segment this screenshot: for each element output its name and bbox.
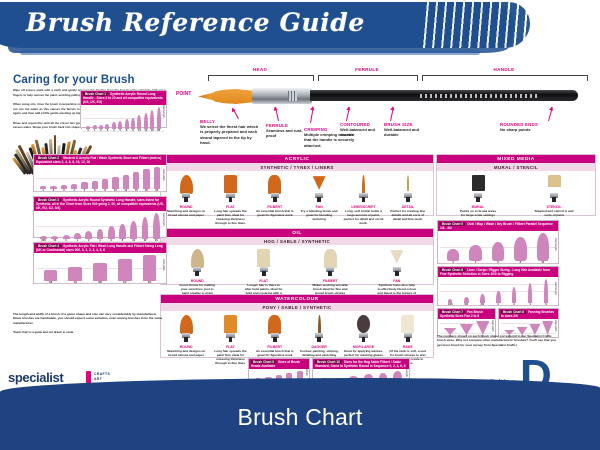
chart-header: Brush Chart 5Oval / Mop / Wash / Dry Bru… <box>438 221 558 231</box>
brush-ferrule <box>252 88 312 104</box>
chart-bar-shape <box>447 249 459 261</box>
chart-bar: 4 <box>71 184 77 192</box>
panel-heading: ACRYLIC <box>161 155 433 163</box>
callout-arrow <box>310 107 314 123</box>
callout-arrow <box>548 107 553 121</box>
brush-card[interactable]: DETAILPerfect for creating fine details … <box>388 175 428 221</box>
chart-bar: 1 <box>40 186 46 192</box>
panel-heading: OIL <box>161 229 433 237</box>
brush-shape-handle <box>317 197 321 202</box>
chart-bar-shape <box>118 259 132 281</box>
chart-bar-shape <box>537 233 549 261</box>
chart-bar-shape <box>143 169 149 189</box>
chart-bar: 10 <box>112 177 118 192</box>
chart-bar-label: 2 <box>512 303 517 306</box>
chart-bar: 1 <box>74 233 81 242</box>
size-chart: Brush Chart 1Synthetic Acrylic Round Lon… <box>80 90 167 128</box>
brush-shape-hair <box>224 315 237 333</box>
brush-card[interactable]: FLATLong hair spreads the paint fast, id… <box>210 175 250 225</box>
brush-shape-handle <box>195 271 199 276</box>
chart-bar-shape <box>512 287 517 303</box>
chart-bar-shape <box>68 267 82 281</box>
chart-bar-label: 6 <box>92 189 98 192</box>
chart-bar-label: 10 <box>112 189 118 192</box>
callout-contoured: CONTOURED Well-balanced and durable <box>340 122 388 138</box>
brush-shape-handle <box>273 197 277 202</box>
chart-bar-shape <box>118 121 122 129</box>
chart-bar-label: 10 <box>537 261 549 264</box>
brush-shape-liner <box>357 175 370 202</box>
chart-bar-label: 6 <box>544 303 549 306</box>
chart-bar-shape <box>514 237 526 261</box>
brush-shape-fan <box>390 249 403 276</box>
chart-axis-label: Width <box>305 369 308 376</box>
callout-arrow <box>275 107 279 121</box>
brush-shape-fan <box>313 175 326 202</box>
brush-description: Perfect for creating fine details and al… <box>388 209 428 221</box>
chart-bar-label: 8 <box>102 189 108 192</box>
brush-shape-handle <box>406 197 410 202</box>
logo-wordmark: specialist <box>8 370 63 385</box>
chart-bar: 6 <box>108 226 115 242</box>
chart-bar: 8 <box>514 237 526 264</box>
chart-bar-label: 2 <box>99 129 103 132</box>
brush-shape-hair <box>390 249 403 264</box>
chart-bar: 16 <box>150 110 154 132</box>
brush-illustration <box>401 315 415 343</box>
chart-bar: 12 <box>144 113 148 132</box>
brush-illustration <box>547 175 561 203</box>
brush-illustration <box>257 249 271 277</box>
chart-header: Brush Chart 1Synthetic Acrylic Round Lon… <box>81 91 166 105</box>
chart-bar: 6 <box>492 242 504 264</box>
panel-subheading: HOG / SABLE / SYNTHETIC <box>161 237 433 245</box>
brush-shape-hair <box>472 175 485 191</box>
brush-illustration <box>323 249 337 277</box>
chart-bar-shape <box>544 279 549 303</box>
chart-bar-label: 1/4 <box>68 281 82 284</box>
brush-shape-hair <box>357 315 370 333</box>
chart-bar-shape <box>130 221 137 239</box>
brush-shape-flat <box>257 249 270 276</box>
brush-card[interactable]: FILBERTAn essential brush that is great … <box>255 315 295 357</box>
bracket-label-ferrule: FERRULE <box>318 67 416 72</box>
brush-shape-hair <box>268 315 281 334</box>
size-chart: Brush Chart 6Liner / Script / Rigger Siz… <box>437 266 559 306</box>
chart-bar: 4 <box>469 245 481 264</box>
chart-axis-label: Hair length <box>162 105 165 118</box>
chart-plot: 00000012468101216 <box>34 211 166 242</box>
chart-axis-label: Hair length <box>554 238 557 251</box>
chart-bar-label: 3/8 <box>93 281 107 284</box>
chart-plot: 12345681012162024 <box>34 165 166 192</box>
chart-bar-label: 5 <box>118 129 122 132</box>
chart-bar-shape <box>119 224 126 239</box>
brush-shape-handle <box>362 337 366 342</box>
brush-description: Sketching and designs on broad canvas an… <box>166 349 206 357</box>
chart-bar-label: 12 <box>144 129 148 132</box>
chart-bar-label: 1 <box>40 189 46 192</box>
chart-bar-shape <box>157 107 161 129</box>
chart-bar: 2 <box>447 249 459 264</box>
chart-bar: 8 <box>119 224 126 242</box>
chart-bar: 3/4 <box>143 255 157 284</box>
brush-illustration <box>190 249 204 277</box>
chart-bar-label: 12 <box>123 189 129 192</box>
brush-shape-handle <box>317 337 321 342</box>
brush-illustration <box>179 175 193 203</box>
brush-illustration <box>223 315 237 343</box>
chart-header: Brush Chart 4Synthetic Acrylic Flat / Wa… <box>34 243 166 253</box>
chart-bar-shape <box>85 231 92 239</box>
chart-bar: 3/8 <box>93 263 107 284</box>
chart-bar-label: 4 <box>71 189 77 192</box>
chart-axis-label: Hair length <box>162 213 165 226</box>
chart-bar-label: 10/0 <box>448 303 453 306</box>
brush-description: Paints on to broad areas for large-scale… <box>458 209 498 217</box>
brush-card[interactable]: LINER/SCRIPTLong, soft bristle holds a l… <box>343 175 383 225</box>
chart-bar: 24 <box>154 167 160 192</box>
chart-bar: 0 <box>496 291 501 306</box>
brush-shape-flat <box>401 315 414 342</box>
brush-shape-filbert <box>268 315 281 342</box>
brush-card[interactable]: FILBERTMakes working versatile brush ide… <box>310 249 350 295</box>
chart-header: Brush Chart 2Student & Acrylic Flat / Wa… <box>34 155 166 165</box>
chart-bar-label: 16 <box>133 189 139 192</box>
chart-bar-shape <box>480 294 485 303</box>
brush-shape-hair <box>268 175 281 194</box>
brush-description: Stippled and stencil is and sorts of pai… <box>534 209 574 217</box>
chart-bar-shape <box>112 177 118 189</box>
brush-illustration <box>268 315 282 343</box>
chart-bar: 3 <box>61 185 67 192</box>
chart-bar: 4 <box>112 122 116 132</box>
brush-shape-detail <box>401 175 414 202</box>
callout-text: No sharp points <box>500 127 554 132</box>
brush-shape-hair <box>313 175 326 190</box>
brush-shape-round <box>191 249 204 276</box>
chart-bar-label: 6 <box>125 129 129 132</box>
panel-subheading: SYNTHETIC / TYNEX / LINERS <box>161 163 433 171</box>
chart-bar-shape <box>108 226 115 239</box>
chart-bar-label: 8 <box>131 129 135 132</box>
chart-header: Brush Chart 3Synthetic Acrylic Round Syn… <box>34 197 166 211</box>
brush-description: Sketching and designs on broad canvas an… <box>166 209 206 217</box>
note-left-small: *Each chart is a guide and not drawn to … <box>13 330 163 334</box>
chart-bar-label: 20 <box>157 129 161 132</box>
chart-bar: 8 <box>102 179 108 192</box>
chart-bar-label: 24 <box>154 189 160 192</box>
chart-bar-label: 4 <box>469 261 481 264</box>
chart-header: Brush Chart 7Fan Brush Synthetic Sizes F… <box>438 309 495 319</box>
brush-card[interactable]: STENCILStippled and stencil is and sorts… <box>534 175 574 217</box>
page-header: Brush Reference Guide <box>0 0 600 62</box>
chart-bar-shape <box>125 119 129 129</box>
chart-bar-label: 4 <box>528 303 533 306</box>
brush-shape-filbert <box>268 175 281 202</box>
chart-bar-shape <box>112 122 116 129</box>
chart-bar-shape <box>144 113 148 129</box>
chart-bar-label: 6 <box>492 261 504 264</box>
chart-bar-label: 3/4 <box>143 281 157 284</box>
brand-logo: specialist CRAFTS ART <box>8 370 63 385</box>
brush-illustration <box>312 175 326 203</box>
chart-bar: 1 <box>93 125 97 132</box>
callout-text: Well-balanced and durable <box>340 127 388 138</box>
brush-shape-flat <box>224 175 237 202</box>
chart-bar-shape <box>492 242 504 261</box>
size-chart: Brush Chart 3Synthetic Acrylic Round Syn… <box>33 196 167 238</box>
note-right: The numbers shown on each brush shape co… <box>437 334 557 347</box>
chart-bar-label: 10 <box>137 129 141 132</box>
chart-bar: 12 <box>142 217 149 242</box>
brush-shape-handle <box>273 337 277 342</box>
brush-card[interactable]: FANSynthetic hairs also help to effectiv… <box>377 249 417 299</box>
chart-bar: 1/2 <box>118 259 132 284</box>
chart-bar-label: 1/8 <box>44 281 58 284</box>
brush-shape-hair <box>257 249 270 267</box>
chart-bar-shape <box>97 229 104 239</box>
size-chart: Brush Chart 4Synthetic Acrylic Flat / Wa… <box>33 242 167 284</box>
brush-shape-hair <box>407 175 409 191</box>
brush-shape-mural <box>472 175 485 202</box>
brush-card[interactable]: MURALPaints on to broad areas for large-… <box>458 175 498 217</box>
chart-bar-shape <box>131 118 135 129</box>
footer-caption: Brush Chart <box>0 404 600 431</box>
brush-illustration <box>268 175 282 203</box>
brush-shape-stencil <box>548 175 561 202</box>
chart-axis-label: Hair width <box>162 169 165 181</box>
caring-section-title: Caring for your Brush <box>13 74 135 86</box>
brush-shape-hair <box>180 315 193 334</box>
bracket-handle <box>422 75 588 81</box>
chart-bar-label: 1 <box>93 129 97 132</box>
callout-rounded-ends: ROUNDED ENDS No sharp points <box>500 122 554 132</box>
callout-ferrule: FERRULE Seamless and rust-proof <box>266 123 308 139</box>
chart-bar: 20 <box>143 169 149 192</box>
brush-card[interactable]: FLATLong hair spreads the paint fast, id… <box>210 315 250 365</box>
chart-plot: 10/06/03/00246 <box>438 277 558 306</box>
brush-shape-mop <box>357 315 370 342</box>
brush-card[interactable]: DAGGERContour painting, striping, detail… <box>299 315 339 357</box>
chart-bar-shape <box>542 321 553 335</box>
brush-shape-hair <box>224 175 237 193</box>
chart-axis-label: Hair width <box>554 320 557 332</box>
note-left: The length and width of a brush of a giv… <box>13 312 163 325</box>
chart-header: Brush Chart 8Fanning Brushes in sizes 2/… <box>499 309 558 319</box>
header-brush-fray <box>420 2 530 48</box>
label-point: POINT <box>176 91 191 97</box>
brush-illustration <box>223 175 237 203</box>
chart-bar-label: 3/0 <box>480 303 485 306</box>
chart-bar-label: 20 <box>143 189 149 192</box>
chart-bar: 2 <box>99 125 103 132</box>
brush-card[interactable]: ROUNDSketching and designs on broad canv… <box>166 175 206 217</box>
chart-bar: 12 <box>123 175 129 192</box>
chart-header: Brush Chart 9Sizes of Brush Heads Availa… <box>249 359 309 369</box>
brush-shape-round <box>180 315 193 342</box>
chart-bar-shape <box>102 179 108 189</box>
brush-card[interactable]: ROUNDGood choice for making your own lin… <box>177 249 217 295</box>
panel-subheading: PONY / SABLE / SYNTHETIC <box>161 303 433 311</box>
page-title: Brush Reference Guide <box>26 8 365 37</box>
brush-shape-handle <box>262 271 266 276</box>
chart-bar: 4 <box>97 229 104 242</box>
panel-acrylic: ACRYLICSYNTHETIC / TYNEX / LINERSROUNDSk… <box>160 154 434 216</box>
brush-illustration <box>390 249 404 277</box>
brush-shape-handle <box>229 197 233 202</box>
chart-bar-shape <box>150 110 154 129</box>
chart-bar-shape <box>476 321 489 335</box>
chart-bar-label: 5 <box>81 189 87 192</box>
chart-bar: 6 <box>92 181 98 192</box>
size-chart: Brush Chart 5Oval / Mop / Wash / Dry Bru… <box>437 220 559 264</box>
brush-card[interactable]: MOP/LARGEGreat for applying washes, perf… <box>343 315 383 361</box>
chart-bar-label: 16 <box>150 129 154 132</box>
chart-bar-label: 6/0 <box>464 303 469 306</box>
panel-watercolour: WATERCOLOURPONY / SABLE / SYNTHETICROUND… <box>160 294 434 358</box>
brush-illustration <box>356 175 370 203</box>
brush-shape-filbert <box>324 249 337 276</box>
chart-bar-label: 2 <box>447 261 459 264</box>
brush-card[interactable]: ROUNDSketching and designs on broad canv… <box>166 315 206 357</box>
brush-description: Try a blending brush and great for blend… <box>299 209 339 221</box>
chart-bar: 10 <box>130 221 137 242</box>
header-brush-stroke-tertiary <box>20 50 480 55</box>
chart-bar: 2 <box>512 287 517 306</box>
brush-shape-handle <box>229 337 233 342</box>
brush-illustration <box>471 175 485 203</box>
callout-text: Well-balanced and durable <box>384 127 432 138</box>
chart-axis-label: Hair width <box>491 320 494 332</box>
brush-shape-liner <box>313 315 326 342</box>
brush-handle <box>310 90 578 101</box>
chart-bar-shape <box>154 167 160 189</box>
chart-bar-shape <box>469 245 481 261</box>
chart-bar-label: 3 <box>105 129 109 132</box>
brush-shape-hair <box>324 249 337 268</box>
chart-bar: 10 <box>537 233 549 264</box>
size-chart: Brush Chart 2Student & Acrylic Flat / Wa… <box>33 154 167 192</box>
bracket-head <box>208 75 314 81</box>
brush-shape-handle <box>184 337 188 342</box>
brush-illustration <box>356 315 370 343</box>
chart-bar: 3 <box>105 124 109 132</box>
brush-shape-hair <box>548 175 561 187</box>
chart-bar-label: 0 <box>86 129 90 132</box>
chart-bar: 10 <box>137 115 141 132</box>
callout-arrow <box>390 107 394 121</box>
brush-shape-hair <box>191 249 204 268</box>
brush-shape-flat <box>224 315 237 342</box>
brush-shape-round <box>180 175 193 202</box>
chart-axis-label: Hair length <box>554 282 557 295</box>
chart-plot: 246810 <box>438 231 558 264</box>
chart-bar-label: 3 <box>61 189 67 192</box>
chart-bar-label: 0 <box>496 303 501 306</box>
brush-description: Long hair spreads the paint fast, ideal … <box>210 349 250 365</box>
brush-description: An essential brush that is great for fig… <box>255 349 295 357</box>
bracket-label-handle: HANDLE <box>422 67 586 72</box>
chart-bar-shape <box>496 291 501 303</box>
chart-header: Brush Chart 6Liner / Script / Rigger Siz… <box>438 267 558 277</box>
chart-bar-shape <box>153 213 160 239</box>
chart-bar: 0 <box>63 235 70 242</box>
chart-axis-label: Length <box>405 369 408 377</box>
chart-bar-shape <box>92 181 98 189</box>
panel-heading: MIXED MEDIA <box>437 155 595 163</box>
brush-description: Long hair spreads the paint fast, ideal … <box>210 209 250 225</box>
chart-bar: 16 <box>153 213 160 242</box>
bracket-ferrule <box>318 75 418 81</box>
brush-illustration <box>401 175 415 203</box>
brush-description: Contour painting, striping, detailing an… <box>299 349 339 357</box>
brush-card[interactable]: FANTry a blending brush and great for bl… <box>299 175 339 221</box>
callout-arrow <box>346 107 350 121</box>
brush-card[interactable]: FILBERTAn essential brush that is great … <box>255 175 295 217</box>
brush-shape-handle <box>476 197 480 202</box>
chart-bar: 3/0 <box>480 294 485 306</box>
brush-shape-handle <box>328 271 332 276</box>
chart-bar: 6 <box>544 279 549 306</box>
chart-plot: 0123456810121620 <box>81 105 166 132</box>
brush-shape-handle <box>406 337 410 342</box>
brush-description: An essential brush that is great for fig… <box>255 209 295 217</box>
brush-shape-handle <box>362 197 366 202</box>
chart-bar: 8 <box>131 118 135 132</box>
bracket-label-head: HEAD <box>208 67 312 72</box>
brush-anatomy-diagram: HEAD FERRULE HANDLE POINT BELLY We selec… <box>178 67 596 159</box>
callout-text: We select the finest hair which is prope… <box>200 124 262 146</box>
callout-brush-size: BRUSH SIZE Well-balanced and durable <box>384 122 432 138</box>
chart-plot: 1/81/43/81/23/4 <box>34 253 166 284</box>
chart-header: Brush Chart 10Sizes for the Hog Sable Fi… <box>313 359 409 369</box>
chart-axis-label: Hair width <box>162 259 165 271</box>
panel-mixed-media: MIXED MEDIAMURAL / STENCILMURALPaints on… <box>436 154 596 216</box>
document-sheet: Caring for your Brush Wipe off excess pa… <box>0 62 600 392</box>
chart-bar-shape <box>133 172 139 189</box>
brush-illustration <box>312 315 326 343</box>
panel-oil: OILHOG / SABLE / SYNTHETICROUNDGood choi… <box>160 228 434 285</box>
chart-bar-shape <box>143 255 157 281</box>
brush-illustration <box>179 315 193 343</box>
chart-bar-shape <box>142 217 149 239</box>
chart-bar-shape <box>137 115 141 129</box>
panel-subheading: MURAL / STENCIL <box>437 163 595 171</box>
brush-shape-handle <box>184 197 188 202</box>
brush-shape-handle <box>552 197 556 202</box>
chart-bar: 5 <box>81 182 87 192</box>
chart-bar-shape <box>93 263 107 281</box>
callout-arrow <box>232 108 239 119</box>
chart-bar: 5 <box>118 121 122 132</box>
panel-brush-list: ROUNDSketching and designs on broad canv… <box>161 171 433 228</box>
chart-bar: 20 <box>157 107 161 132</box>
chart-bar: 1/4 <box>68 267 82 284</box>
callout-belly: BELLY We select the finest hair which is… <box>200 119 262 146</box>
chart-bar: 10/0 <box>448 299 453 306</box>
chart-bar: 2 <box>50 186 56 192</box>
chart-bar: 6 <box>125 119 129 132</box>
brush-hair <box>208 89 254 104</box>
chart-bar-label: 2 <box>50 189 56 192</box>
chart-bar: 2 <box>85 231 92 242</box>
chart-bar: 1/8 <box>44 270 58 284</box>
brush-shape-handle <box>395 271 399 276</box>
chart-bar-shape <box>123 175 129 189</box>
brush-description: Long, soft bristle holds a large amount … <box>343 209 383 225</box>
brush-shape-hair <box>180 175 193 194</box>
